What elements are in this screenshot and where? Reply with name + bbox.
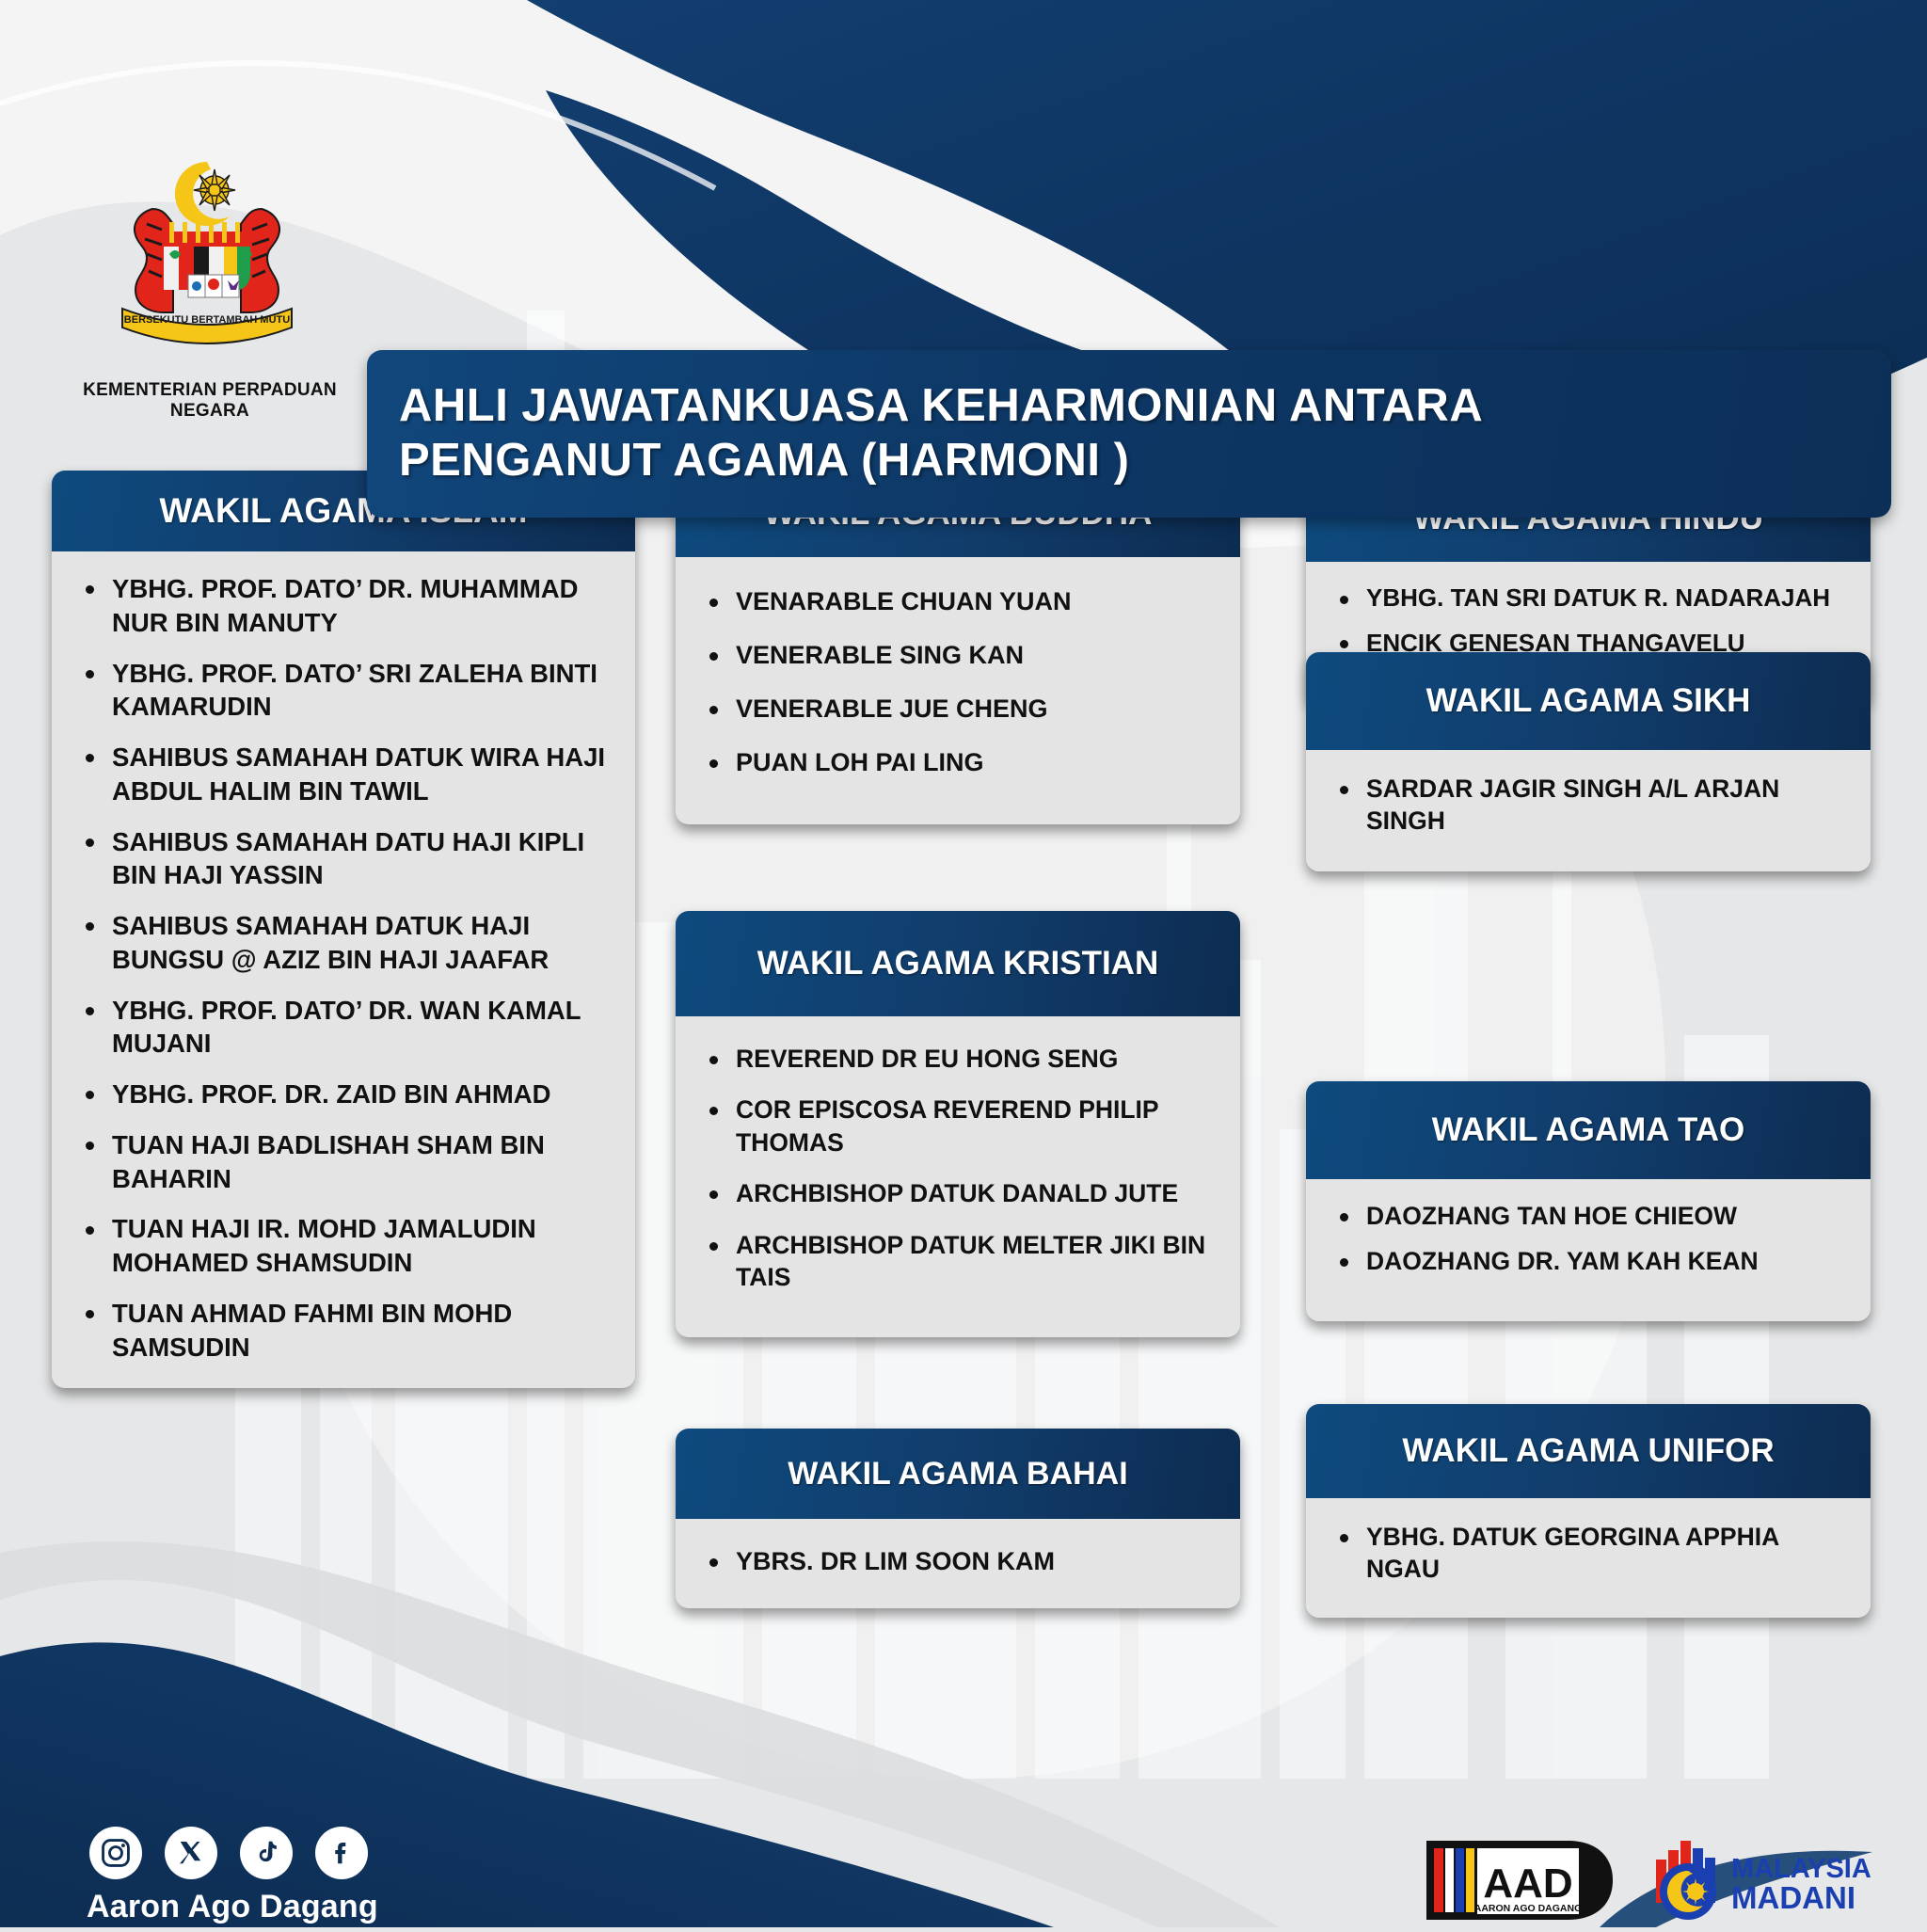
aad-logo-caption: AARON AGO DAGANG xyxy=(1474,1903,1583,1914)
card-bahai: WAKIL AGAMA BAHAI YBRS. DR LIM SOON KAM xyxy=(676,1429,1240,1608)
list-item: SAHIBUS SAMAHAH DATUK WIRA HAJI ABDUL HA… xyxy=(69,741,611,808)
instagram-icon xyxy=(100,1837,132,1869)
list-item: SARDAR JAGIR SINGH A/L ARJAN SINGH xyxy=(1323,773,1846,838)
card-buddha: WAKIL AGAMA BUDDHA VENARABLE CHUAN YUANV… xyxy=(676,471,1240,824)
title-banner: AHLI JAWATANKUASA KEHARMONIAN ANTARA PEN… xyxy=(367,350,1891,518)
list-item: TUAN HAJI IR. MOHD JAMALUDIN MOHAMED SHA… xyxy=(69,1212,611,1280)
aad-logo: AAD AARON AGO DAGANG xyxy=(1423,1835,1620,1930)
footer-name: Aaron Ago Dagang xyxy=(87,1889,378,1925)
card-body-kristian: REVEREND DR EU HONG SENGCOR EPISCOSA REV… xyxy=(676,1016,1240,1337)
card-title-sikh: WAKIL AGAMA SIKH xyxy=(1306,652,1871,750)
member-list-hindu: YBHG. TAN SRI DATUK R. NADARAJAHENCIK GE… xyxy=(1323,583,1846,660)
card-sikh: WAKIL AGAMA SIKH SARDAR JAGIR SINGH A/L … xyxy=(1306,652,1871,871)
card-body-unifor: YBHG. DATUK GEORGINA APPHIA NGAU xyxy=(1306,1498,1871,1618)
list-item: COR EPISCOSA REVEREND PHILIP THOMAS xyxy=(693,1094,1216,1158)
list-item: ARCHBISHOP DATUK MELTER JIKI BIN TAIS xyxy=(693,1229,1216,1294)
member-list-unifor: YBHG. DATUK GEORGINA APPHIA NGAU xyxy=(1323,1521,1846,1586)
madani-line-2: MADANI xyxy=(1731,1880,1855,1915)
card-body-tao: DAOZHANG TAN HOE CHIEOWDAOZHANG DR. YAM … xyxy=(1306,1179,1871,1321)
card-body-bahai: YBRS. DR LIM SOON KAM xyxy=(676,1519,1240,1608)
card-body-buddha: VENARABLE CHUAN YUANVENERABLE SING KANVE… xyxy=(676,557,1240,824)
list-item: SAHIBUS SAMAHAH DATU HAJI KIPLI BIN HAJI… xyxy=(69,825,611,893)
list-item: YBHG. TAN SRI DATUK R. NADARAJAH xyxy=(1323,583,1846,615)
card-title-tao: WAKIL AGAMA TAO xyxy=(1306,1081,1871,1179)
list-item: TUAN AHMAD FAHMI BIN MOHD SAMSUDIN xyxy=(69,1297,611,1365)
list-item: YBHG. PROF. DR. ZAID BIN AHMAD xyxy=(69,1078,611,1111)
member-list-kristian: REVEREND DR EU HONG SENGCOR EPISCOSA REV… xyxy=(693,1043,1216,1294)
social-link-instagram[interactable] xyxy=(89,1827,142,1879)
member-list-buddha: VENARABLE CHUAN YUANVENERABLE SING KANVE… xyxy=(693,585,1216,779)
list-item: YBHG. PROF. DATO’ DR. WAN KAMAL MUJANI xyxy=(69,994,611,1062)
malaysia-madani-logo-icon: MALAYSIA MADANI xyxy=(1648,1833,1888,1927)
ministry-name: KEMENTERIAN PERPADUAN NEGARA xyxy=(45,380,374,422)
social-links xyxy=(89,1827,368,1879)
list-item: VENERABLE JUE CHENG xyxy=(693,693,1216,726)
list-item: ARCHBISHOP DATUK DANALD JUTE xyxy=(693,1177,1216,1209)
card-body-islam: YBHG. PROF. DATO’ DR. MUHAMMAD NUR BIN M… xyxy=(52,551,635,1388)
card-kristian: WAKIL AGAMA KRISTIAN REVEREND DR EU HONG… xyxy=(676,911,1240,1337)
card-body-sikh: SARDAR JAGIR SINGH A/L ARJAN SINGH xyxy=(1306,750,1871,871)
card-title-unifor: WAKIL AGAMA UNIFOR xyxy=(1306,1404,1871,1498)
tiktok-icon xyxy=(252,1839,280,1867)
list-item: REVEREND DR EU HONG SENG xyxy=(693,1043,1216,1075)
title-line-2: PENGANUT AGAMA (HARMONI ) xyxy=(399,434,1483,488)
list-item: VENERABLE SING KAN xyxy=(693,639,1216,672)
page-header: BERSEKUTU BERTAMBAH MUTU AHLI JAWATANKUA… xyxy=(0,141,1927,386)
card-islam: WAKIL AGAMA ISLAM YBHG. PROF. DATO’ DR. … xyxy=(52,471,635,1388)
svg-text:BERSEKUTU BERTAMBAH MUTU: BERSEKUTU BERTAMBAH MUTU xyxy=(124,314,290,326)
social-link-facebook[interactable] xyxy=(315,1827,368,1879)
page-title: AHLI JAWATANKUASA KEHARMONIAN ANTARA PEN… xyxy=(367,379,1515,488)
list-item: SAHIBUS SAMAHAH DATUK HAJI BUNGSU @ AZIZ… xyxy=(69,909,611,977)
member-list-islam: YBHG. PROF. DATO’ DR. MUHAMMAD NUR BIN M… xyxy=(69,572,611,1364)
card-title-kristian: WAKIL AGAMA KRISTIAN xyxy=(676,911,1240,1016)
member-list-bahai: YBRS. DR LIM SOON KAM xyxy=(693,1545,1216,1578)
card-unifor: WAKIL AGAMA UNIFOR YBHG. DATUK GEORGINA … xyxy=(1306,1404,1871,1618)
x-twitter-icon xyxy=(177,1839,205,1867)
list-item: YBHG. PROF. DATO’ DR. MUHAMMAD NUR BIN M… xyxy=(69,572,611,640)
list-item: DAOZHANG DR. YAM KAH KEAN xyxy=(1323,1245,1846,1277)
list-item: TUAN HAJI BADLISHAH SHAM BIN BAHARIN xyxy=(69,1128,611,1196)
svg-text:AAD: AAD xyxy=(1483,1860,1572,1907)
malaysia-coat-of-arms-icon: BERSEKUTU BERTAMBAH MUTU xyxy=(66,151,348,358)
member-list-sikh: SARDAR JAGIR SINGH A/L ARJAN SINGH xyxy=(1323,773,1846,838)
social-link-x[interactable] xyxy=(165,1827,217,1879)
list-item: VENARABLE CHUAN YUAN xyxy=(693,585,1216,618)
aad-logo-icon: AAD AARON AGO DAGANG xyxy=(1423,1835,1620,1925)
list-item: YBHG. PROF. DATO’ SRI ZALEHA BINTI KAMAR… xyxy=(69,657,611,725)
facebook-icon xyxy=(327,1839,356,1867)
list-item: YBRS. DR LIM SOON KAM xyxy=(693,1545,1216,1578)
card-tao: WAKIL AGAMA TAO DAOZHANG TAN HOE CHIEOWD… xyxy=(1306,1081,1871,1321)
title-line-1: AHLI JAWATANKUASA KEHARMONIAN ANTARA xyxy=(399,379,1483,434)
list-item: DAOZHANG TAN HOE CHIEOW xyxy=(1323,1200,1846,1232)
malaysia-madani-logo: MALAYSIA MADANI xyxy=(1648,1833,1888,1932)
list-item: PUAN LOH PAI LING xyxy=(693,746,1216,779)
card-title-bahai: WAKIL AGAMA BAHAI xyxy=(676,1429,1240,1519)
member-list-tao: DAOZHANG TAN HOE CHIEOWDAOZHANG DR. YAM … xyxy=(1323,1200,1846,1278)
social-link-tiktok[interactable] xyxy=(240,1827,293,1879)
list-item: YBHG. DATUK GEORGINA APPHIA NGAU xyxy=(1323,1521,1846,1586)
